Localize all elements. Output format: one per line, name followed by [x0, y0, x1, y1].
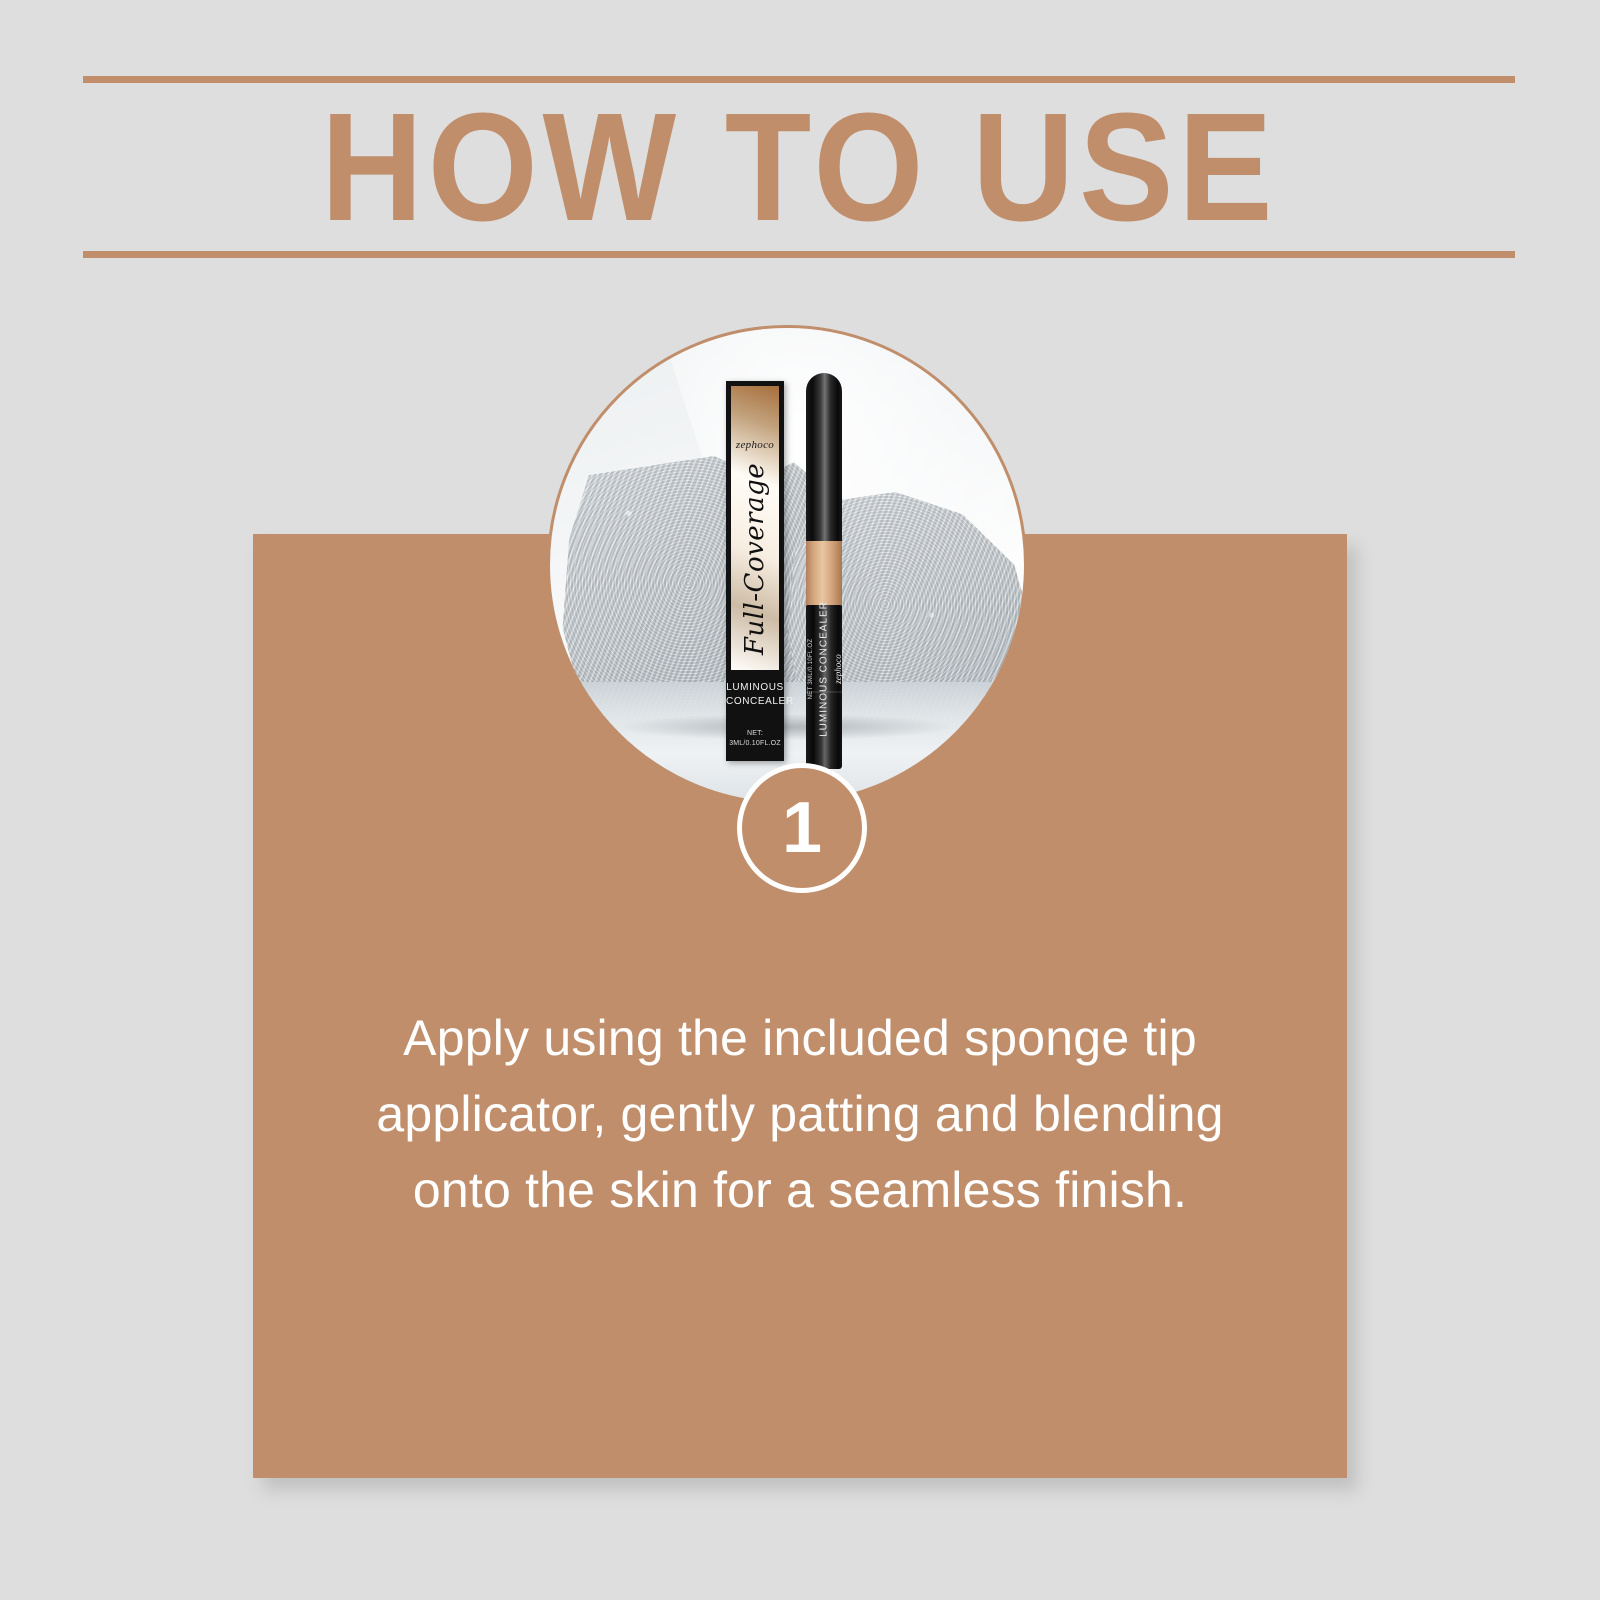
header: HOW TO USE: [83, 70, 1515, 265]
pen-brand-label: zephoco: [833, 654, 843, 684]
concealer-pen: zephoco LUMINOUS CONCEALER NET 3ML/0.10F…: [804, 373, 844, 769]
how-to-use-slide: HOW TO USE Apply using the included spon…: [0, 0, 1600, 1600]
pen-net-content: NET 3ML/0.10FL.OZ: [808, 639, 814, 700]
carton-brand-label: zephoco: [726, 439, 784, 451]
carton-net-content: NET: 3ML/0.10FL.OZ: [726, 729, 784, 749]
header-rule-bottom: [83, 251, 1515, 258]
carton-script-label: Full-Coverage: [740, 463, 770, 655]
step-instruction-text: Apply using the included sponge tip appl…: [350, 1000, 1250, 1228]
carton-net-value: 3ML/0.10FL.OZ: [726, 739, 784, 749]
carton-product-name: LUMINOUS CONCEALER: [726, 681, 784, 708]
product-photo: zephoco Full-Coverage LUMINOUS CONCEALER…: [550, 328, 1024, 802]
product-carton-box: zephoco Full-Coverage LUMINOUS CONCEALER…: [726, 381, 784, 761]
carton-product-name-line2: CONCEALER: [726, 695, 784, 709]
pen-shade-window: [806, 541, 842, 607]
product-photo-circle: zephoco Full-Coverage LUMINOUS CONCEALER…: [547, 325, 1027, 805]
pen-cap: [806, 373, 842, 545]
product-cast-shadow: [620, 714, 950, 740]
carton-product-name-line1: LUMINOUS: [726, 681, 784, 695]
carton-net-label: NET:: [726, 729, 784, 739]
pen-product-name: LUMINOUS CONCEALER: [819, 601, 830, 737]
page-title: HOW TO USE: [140, 84, 1457, 250]
step-number-badge: 1: [737, 763, 867, 893]
